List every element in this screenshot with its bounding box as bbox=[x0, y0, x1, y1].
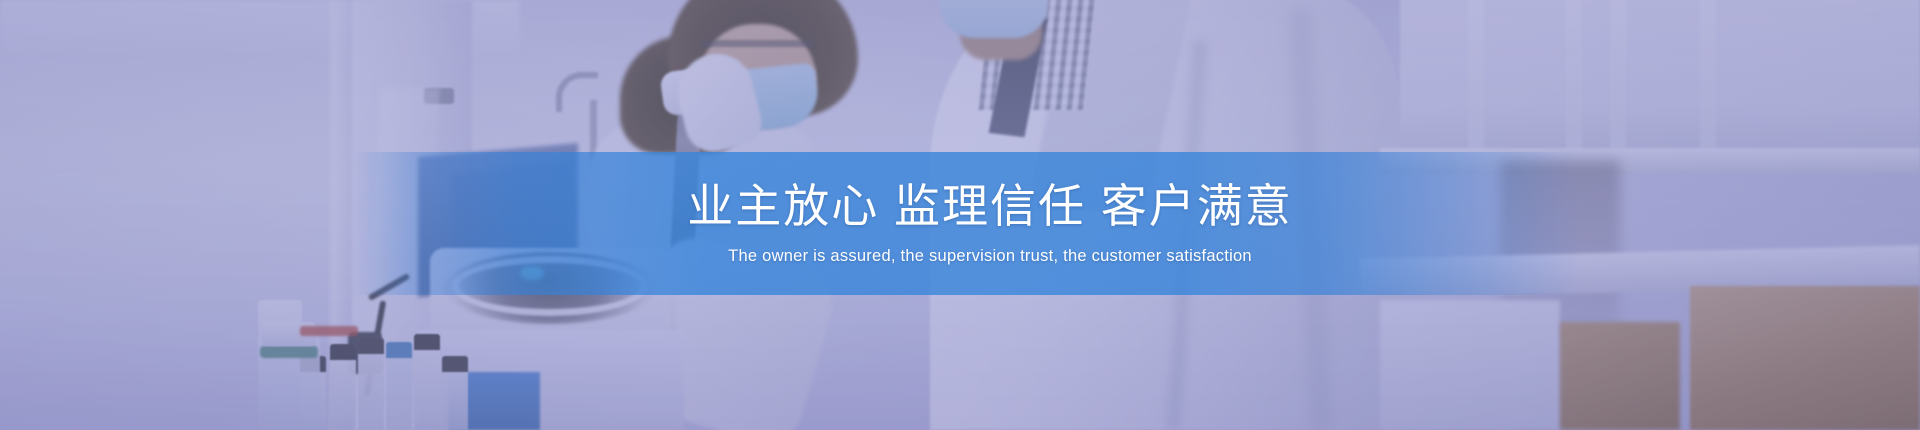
banner-headline: 业主放心 监理信任 客户满意 bbox=[687, 179, 1293, 233]
caption-content: 业主放心 监理信任 客户满意 The owner is assured, the… bbox=[0, 152, 1920, 295]
banner-subtitle: The owner is assured, the supervision tr… bbox=[728, 245, 1252, 268]
caption-band: 业主放心 监理信任 客户满意 The owner is assured, the… bbox=[0, 152, 1920, 295]
hero-banner: 业主放心 监理信任 客户满意 The owner is assured, the… bbox=[0, 0, 1920, 430]
